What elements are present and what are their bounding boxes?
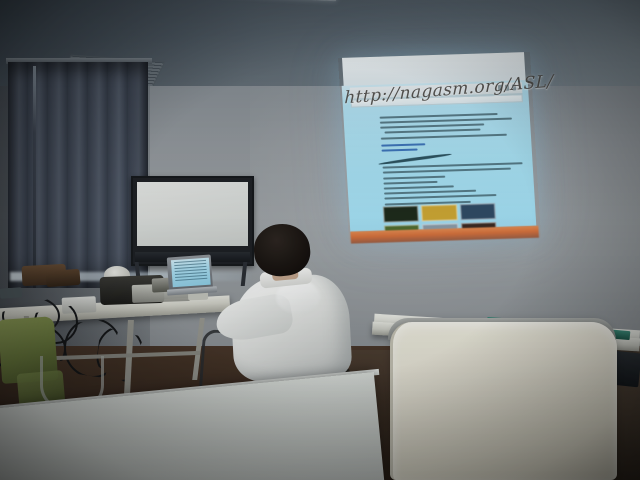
web-page-text-line [384,185,454,189]
window-curtain [8,62,148,288]
web-page-text-line [384,129,480,134]
web-page-text-block [355,106,527,211]
web-page-text-line [383,176,445,180]
web-page-thumbnail[interactable] [421,204,457,221]
web-page-text-line [383,181,437,184]
web-page-text-line [384,190,476,194]
web-page-text-line [380,118,512,124]
web-page-text-line [380,113,498,118]
web-page-text-line [381,134,507,140]
equipment-small-left [0,287,22,299]
web-page-text-line [380,123,484,128]
web-page-text-line [384,194,496,199]
projection-screen [338,52,541,244]
curtain-gap [33,66,36,288]
foreground-chair [390,322,617,480]
laptop [165,254,216,295]
equipment-brown-case-2 [45,269,80,287]
web-page-text-line[interactable] [381,143,425,146]
web-page-text-line [383,168,511,174]
photograph-scene: http://nagasm.org/ASL/ [0,0,640,480]
web-page-thumbnail[interactable] [460,203,496,220]
browser-window-buttons [498,84,516,91]
web-page-thumbnail[interactable] [383,205,419,222]
web-page-text-line[interactable] [382,149,418,152]
web-page-text-line [378,153,452,166]
laptop-screen [171,258,211,288]
